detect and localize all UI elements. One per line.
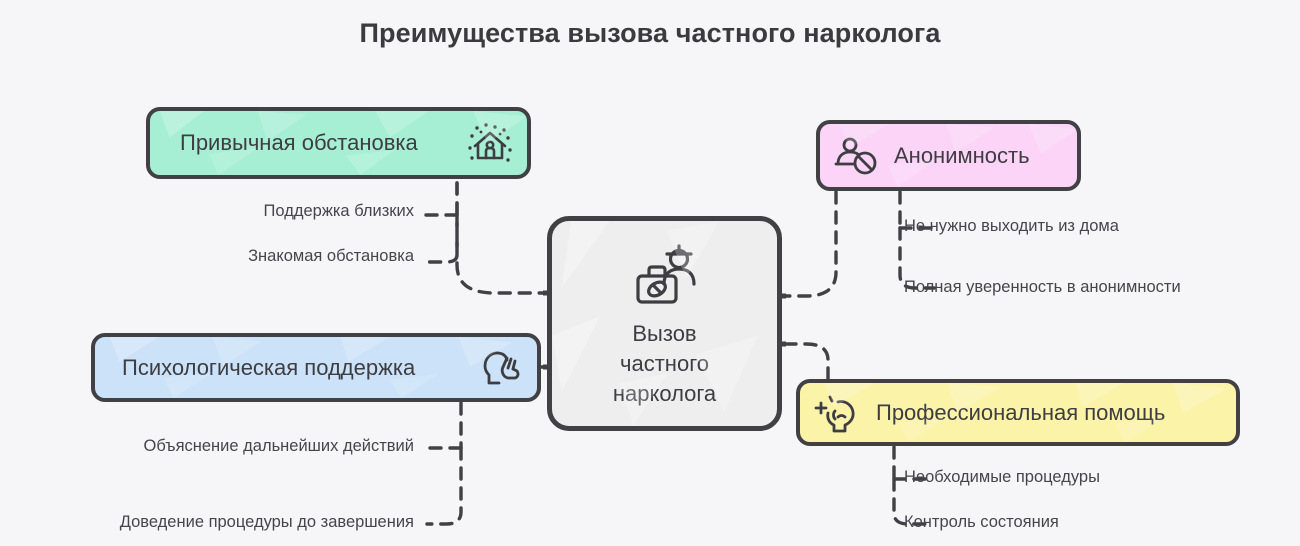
branch-node-habitual-label: Привычная обстановка — [180, 130, 418, 156]
sublabel-support-2: Доведение процедуры до завершения — [34, 513, 414, 532]
page-title: Преимущества вызова частного нарколога — [0, 18, 1300, 49]
head-with-medical-cross-icon — [814, 391, 860, 435]
branch-node-anonymity-label: Анонимность — [894, 143, 1030, 169]
branch-node-support[interactable]: Психологическая поддержка — [91, 333, 541, 402]
sublabel-habitual-1: Поддержка близких — [134, 202, 414, 221]
sublabel-professional-2: Контроль состояния — [904, 513, 1059, 532]
branch-node-anonymity[interactable]: Анонимность — [816, 120, 1081, 191]
sublabel-support-1: Объяснение дальнейших действий — [54, 437, 414, 456]
branch-node-professional[interactable]: Профессиональная помощь — [796, 379, 1240, 446]
central-node-label: Вызов частного нарколога — [613, 319, 716, 409]
sublabel-professional-1: Необходимые процедуры — [904, 468, 1100, 487]
sublabel-habitual-2: Знакомая обстановка — [114, 247, 414, 266]
branch-node-support-label: Психологическая поддержка — [122, 355, 415, 381]
mindmap-canvas: Преимущества вызова частного нарколога — [0, 0, 1300, 546]
house-with-person-icon — [467, 120, 513, 166]
person-no-entry-icon — [834, 134, 880, 178]
doctor-with-medical-bag-icon — [626, 239, 704, 309]
central-node[interactable]: Вызов частного нарколога — [547, 216, 782, 431]
branch-node-professional-label: Профессиональная помощь — [876, 400, 1165, 426]
sublabel-anonymity-2: Полная уверенность в анонимности — [904, 278, 1181, 297]
sublabel-anonymity-1: Не нужно выходить из дома — [904, 217, 1119, 236]
head-with-hand-icon — [479, 347, 523, 389]
branch-node-habitual[interactable]: Привычная обстановка — [146, 107, 531, 179]
